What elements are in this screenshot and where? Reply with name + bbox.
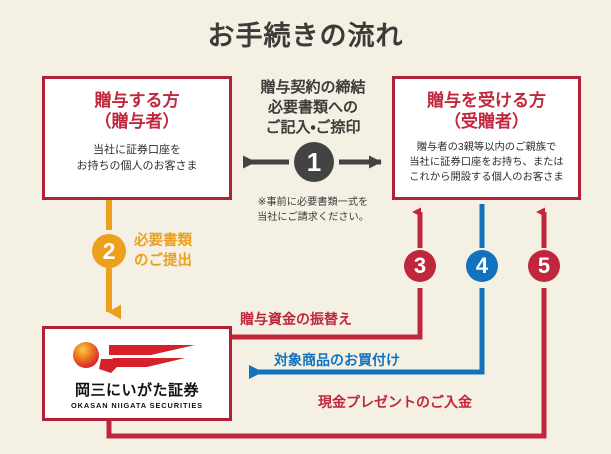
- donee-desc-line2: 当社に証券口座をお持ち、または: [399, 155, 574, 170]
- flow-label-purchase: 対象商品のお買付け: [274, 350, 400, 370]
- donor-desc-line1: 当社に証券口座を: [49, 142, 225, 159]
- step1-description: 贈与契約の締結 必要書類への ご記入・ご捺印: [238, 78, 388, 137]
- step1-note-line1: ※事前に必要書類一式を: [238, 196, 388, 211]
- donee-box-heading: 贈与を受ける方 （受贈者）: [395, 90, 578, 133]
- step1-title: 贈与契約の締結 必要書類への ご記入・ご捺印: [238, 78, 388, 137]
- flow-label-transfer: 贈与資金の振替え: [240, 309, 352, 329]
- donee-desc-line1: 贈与者の3親等以内のご親族で: [399, 140, 574, 155]
- step1-title-line3: ご記入・ご捺印: [238, 118, 388, 138]
- step-badge-1: 1: [294, 142, 334, 182]
- donor-heading-line1: 贈与する方: [95, 91, 180, 110]
- step-badge-5: 5: [528, 250, 560, 282]
- step-badge-3: 3: [404, 250, 436, 282]
- okasan-logo-icon: [67, 339, 207, 377]
- donee-box-description: 贈与者の3親等以内のご親族で 当社に証券口座をお持ち、または これから開設する個…: [395, 140, 578, 186]
- step2-label-line1: 必要書類: [134, 232, 244, 252]
- step-badge-4: 4: [466, 250, 498, 282]
- step2-label: 必要書類 のご提出: [134, 232, 244, 271]
- step1-title-line2: 必要書類への: [238, 98, 388, 118]
- step1-note-line2: 当社にご請求ください。: [238, 211, 388, 226]
- donor-box: 贈与する方 （贈与者） 当社に証券口座を お持ちの個人のお客さま: [42, 76, 232, 200]
- flow-label-cash: 現金プレゼントのご入金: [318, 392, 472, 412]
- flow-diagram: お手続きの流れ 贈与する方 （贈与者） 当社に証券口座を お持ちの個人のお客さま…: [0, 0, 611, 454]
- company-logo: 岡三にいがた証券 OKASAN NIIGATA SECURITIES: [45, 339, 229, 410]
- donee-heading-line2: （受贈者）: [395, 111, 578, 132]
- page-title: お手続きの流れ: [0, 14, 611, 53]
- donee-heading-line1: 贈与を受ける方: [427, 91, 546, 110]
- donor-heading-line2: （贈与者）: [45, 111, 229, 132]
- donor-box-heading: 贈与する方 （贈与者）: [45, 90, 229, 133]
- company-name-ja: 岡三にいがた証券: [45, 379, 229, 400]
- step2-label-line2: のご提出: [134, 252, 244, 272]
- donee-box: 贈与を受ける方 （受贈者） 贈与者の3親等以内のご親族で 当社に証券口座をお持ち…: [392, 76, 581, 200]
- donor-box-description: 当社に証券口座を お持ちの個人のお客さま: [45, 142, 229, 175]
- donee-desc-line3: これから開設する個人のお客さま: [399, 170, 574, 185]
- step1-title-line1: 贈与契約の締結: [238, 78, 388, 98]
- company-name-en: OKASAN NIIGATA SECURITIES: [45, 401, 229, 410]
- step1-note: ※事前に必要書類一式を 当社にご請求ください。: [238, 196, 388, 226]
- company-box: 岡三にいがた証券 OKASAN NIIGATA SECURITIES: [42, 326, 232, 421]
- step-badge-2: 2: [92, 234, 126, 268]
- donor-desc-line2: お持ちの個人のお客さま: [49, 158, 225, 175]
